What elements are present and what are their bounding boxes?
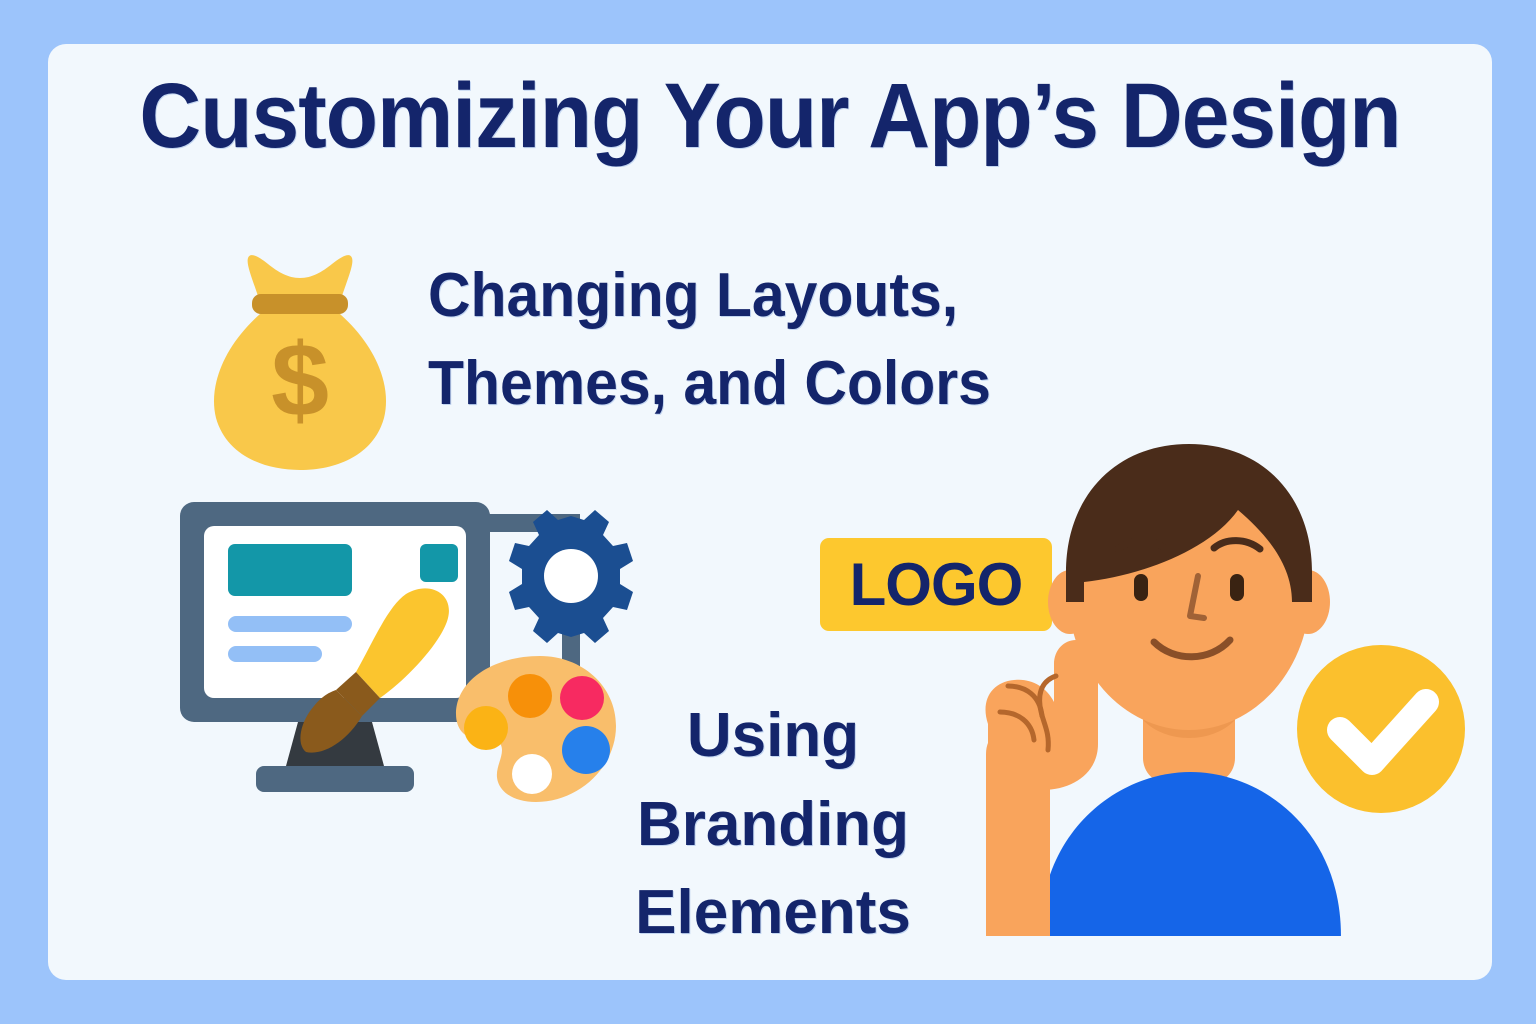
subtitle-left: Changing Layouts, Themes, and Colors	[428, 252, 1093, 428]
subtitle-right: Using Branding Elements	[618, 692, 928, 958]
subtitle-left-line-2: Themes, and Colors	[428, 340, 1093, 428]
svg-text:$: $	[271, 323, 329, 439]
slide-card: Customizing Your App’s Design $	[48, 44, 1492, 980]
slide-canvas: Customizing Your App’s Design $	[0, 0, 1536, 1024]
subtitle-left-line-1: Changing Layouts,	[428, 252, 1093, 340]
check-badge-icon	[1297, 645, 1465, 813]
monitor-design-icon	[158, 444, 658, 869]
page-title: Customizing Your App’s Design	[99, 68, 1442, 165]
subtitle-right-line-3: Elements	[618, 869, 928, 958]
subtitle-right-line-2: Branding	[618, 781, 928, 870]
subtitle-right-line-1: Using	[618, 692, 928, 781]
person-pointing-icon	[908, 424, 1492, 949]
